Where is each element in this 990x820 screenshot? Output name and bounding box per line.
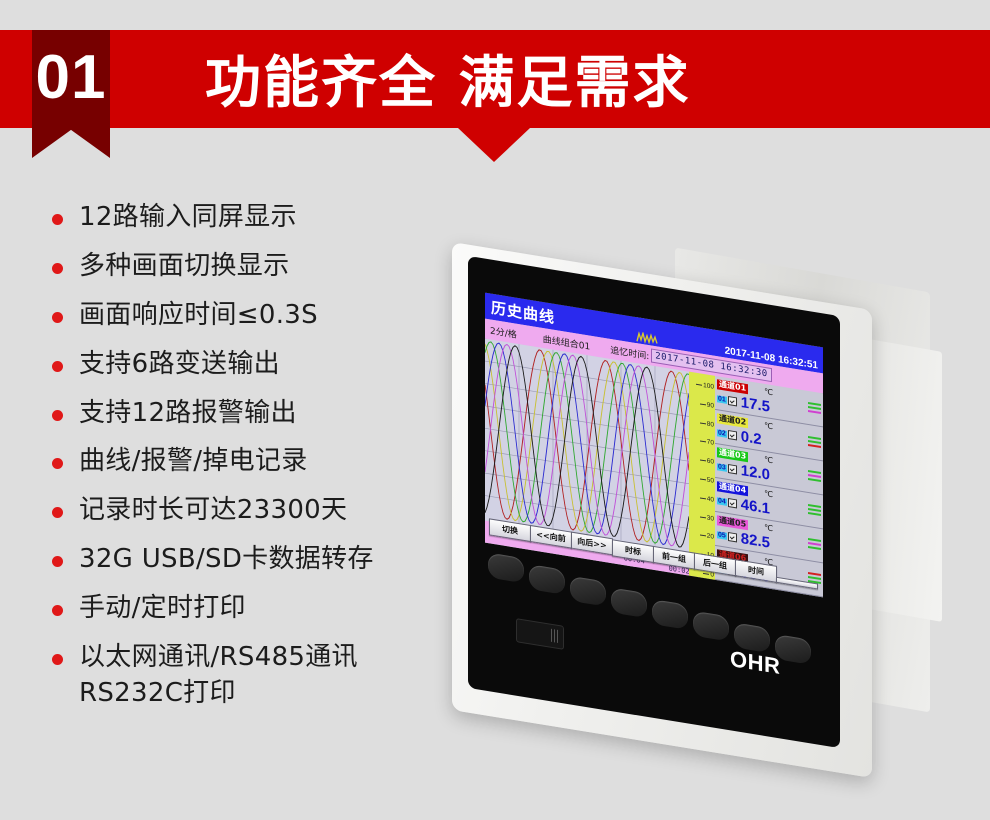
feature-list: 12路输入同屏显示多种画面切换显示画面响应时间≤0.3S支持6路变送输出支持12… bbox=[52, 200, 482, 725]
bullet-dot-icon bbox=[52, 654, 63, 665]
time-axis-label: 00:04 bbox=[624, 554, 645, 565]
y-axis-tick: 90 bbox=[707, 401, 714, 409]
channel-value: 99.8 bbox=[741, 564, 770, 586]
trend-plot[interactable]: 00:1000:0800:0600:0400:02 bbox=[485, 339, 689, 576]
channel-enable-checkbox[interactable] bbox=[728, 429, 737, 439]
physical-button[interactable] bbox=[488, 552, 524, 583]
channel-panel: 通道01℃0117.5通道02℃020.2通道03℃0312.0通道04℃044… bbox=[715, 376, 823, 597]
y-axis-ruler: 1009080706050403020100 bbox=[689, 372, 715, 580]
bullet-dot-icon bbox=[52, 214, 63, 225]
feature-item: 曲线/报警/掉电记录 bbox=[52, 444, 482, 480]
channel-unit: ℃ bbox=[764, 421, 773, 431]
channel-status-bars bbox=[808, 401, 821, 415]
channel-number: 06 bbox=[717, 565, 727, 574]
channel-unit: ℃ bbox=[764, 455, 773, 465]
y-axis-tick: 10 bbox=[707, 552, 714, 560]
channel-value: 17.5 bbox=[741, 394, 770, 416]
feature-item-label: 支持6路变送输出 bbox=[79, 347, 280, 383]
y-axis-tick: 70 bbox=[707, 439, 714, 447]
y-axis-tick: 50 bbox=[707, 477, 714, 485]
header-arrow-notch bbox=[458, 128, 530, 162]
device-illustration: 历史曲线 2017-11-08 16:32:51 2分/格 曲线组合01 追忆时… bbox=[430, 262, 990, 762]
channel-enable-checkbox[interactable] bbox=[728, 565, 737, 575]
channel-enable-checkbox[interactable] bbox=[728, 463, 737, 473]
channel-number: 05 bbox=[717, 531, 727, 540]
channel-value: 46.1 bbox=[741, 496, 770, 518]
y-axis-tick: 40 bbox=[707, 495, 714, 503]
status-bar-segment bbox=[808, 545, 821, 550]
bullet-dot-icon bbox=[52, 507, 63, 518]
feature-item-label: 记录时长可达23300天 bbox=[79, 493, 347, 529]
feature-item-label: 曲线/报警/掉电记录 bbox=[79, 444, 308, 480]
feature-item: 支持12路报警输出 bbox=[52, 396, 482, 432]
channel-unit: ℃ bbox=[764, 523, 773, 533]
channel-status-bars bbox=[808, 469, 821, 483]
status-bar-segment bbox=[808, 511, 821, 516]
channel-unit: ℃ bbox=[764, 489, 773, 499]
bullet-dot-icon bbox=[52, 361, 63, 372]
y-axis-tick: 30 bbox=[707, 514, 714, 522]
feature-item: 记录时长可达23300天 bbox=[52, 493, 482, 529]
feature-item: 以太网通讯/RS485通讯 RS232C打印 bbox=[52, 640, 482, 712]
channel-enable-checkbox[interactable] bbox=[728, 497, 737, 507]
channel-unit: ℃ bbox=[764, 557, 773, 567]
feature-item: 手动/定时打印 bbox=[52, 591, 482, 627]
y-axis-tick: 60 bbox=[707, 458, 714, 466]
page-title: 功能齐全 满足需求 bbox=[205, 38, 691, 119]
channel-value: 0.2 bbox=[741, 428, 762, 448]
channel-value: 82.5 bbox=[741, 530, 770, 552]
feature-item-label: 32G USB/SD卡数据转存 bbox=[79, 542, 374, 578]
time-axis-label: 00:10 bbox=[489, 522, 510, 533]
channel-status-bars bbox=[808, 435, 821, 449]
feature-item: 12路输入同屏显示 bbox=[52, 200, 482, 236]
poster-page: 01 功能齐全 满足需求 12路输入同屏显示多种画面切换显示画面响应时间≤0.3… bbox=[0, 0, 990, 820]
channel-number: 04 bbox=[717, 497, 727, 506]
y-axis-tick: 20 bbox=[707, 533, 714, 541]
bullet-dot-icon bbox=[52, 458, 63, 469]
recall-time-label: 追忆时间: bbox=[610, 342, 649, 361]
channel-number: 01 bbox=[717, 395, 727, 404]
feature-item-label: 手动/定时打印 bbox=[79, 591, 246, 627]
physical-button[interactable] bbox=[529, 564, 565, 595]
feature-item-label: 以太网通讯/RS485通讯 RS232C打印 bbox=[79, 640, 358, 712]
feature-item: 32G USB/SD卡数据转存 bbox=[52, 542, 482, 578]
time-axis-label: 00:08 bbox=[534, 533, 555, 544]
feature-item-label: 支持12路报警输出 bbox=[79, 396, 297, 432]
channel-unit: ℃ bbox=[764, 387, 773, 397]
physical-button[interactable] bbox=[775, 634, 811, 665]
channel-value: 12.0 bbox=[741, 462, 770, 484]
feature-item-label: 多种画面切换显示 bbox=[79, 249, 289, 285]
physical-button[interactable] bbox=[570, 576, 606, 607]
y-axis-tick: 100 bbox=[703, 382, 714, 391]
physical-button[interactable] bbox=[652, 599, 688, 630]
y-axis-tick: 0 bbox=[710, 571, 714, 579]
bullet-dot-icon bbox=[52, 556, 63, 567]
channel-number: 03 bbox=[717, 463, 727, 472]
bullet-dot-icon bbox=[52, 605, 63, 616]
feature-item-label: 画面响应时间≤0.3S bbox=[79, 298, 318, 334]
bullet-dot-icon bbox=[52, 312, 63, 323]
section-number: 01 bbox=[32, 34, 110, 120]
bullet-dot-icon bbox=[52, 263, 63, 274]
feature-item: 多种画面切换显示 bbox=[52, 249, 482, 285]
status-bar-segment bbox=[808, 409, 821, 414]
feature-item-label: 12路输入同屏显示 bbox=[79, 200, 297, 236]
physical-button[interactable] bbox=[693, 611, 729, 642]
y-axis-tick: 80 bbox=[707, 420, 714, 428]
channel-status-bars bbox=[808, 571, 821, 585]
status-bar-segment bbox=[808, 477, 821, 482]
channel-status-bars bbox=[808, 537, 821, 551]
bullet-dot-icon bbox=[52, 410, 63, 421]
time-per-division: 2分/格 bbox=[490, 323, 517, 340]
channel-enable-checkbox[interactable] bbox=[728, 395, 737, 405]
physical-button[interactable] bbox=[611, 587, 647, 618]
status-bar-segment bbox=[808, 443, 821, 448]
status-bar-segment bbox=[808, 579, 821, 584]
time-axis-label: 00:06 bbox=[579, 543, 600, 554]
feature-item: 画面响应时间≤0.3S bbox=[52, 298, 482, 334]
channel-number: 02 bbox=[717, 429, 727, 438]
channel-enable-checkbox[interactable] bbox=[728, 531, 737, 541]
feature-item: 支持6路变送输出 bbox=[52, 347, 482, 383]
channel-status-bars bbox=[808, 503, 821, 517]
